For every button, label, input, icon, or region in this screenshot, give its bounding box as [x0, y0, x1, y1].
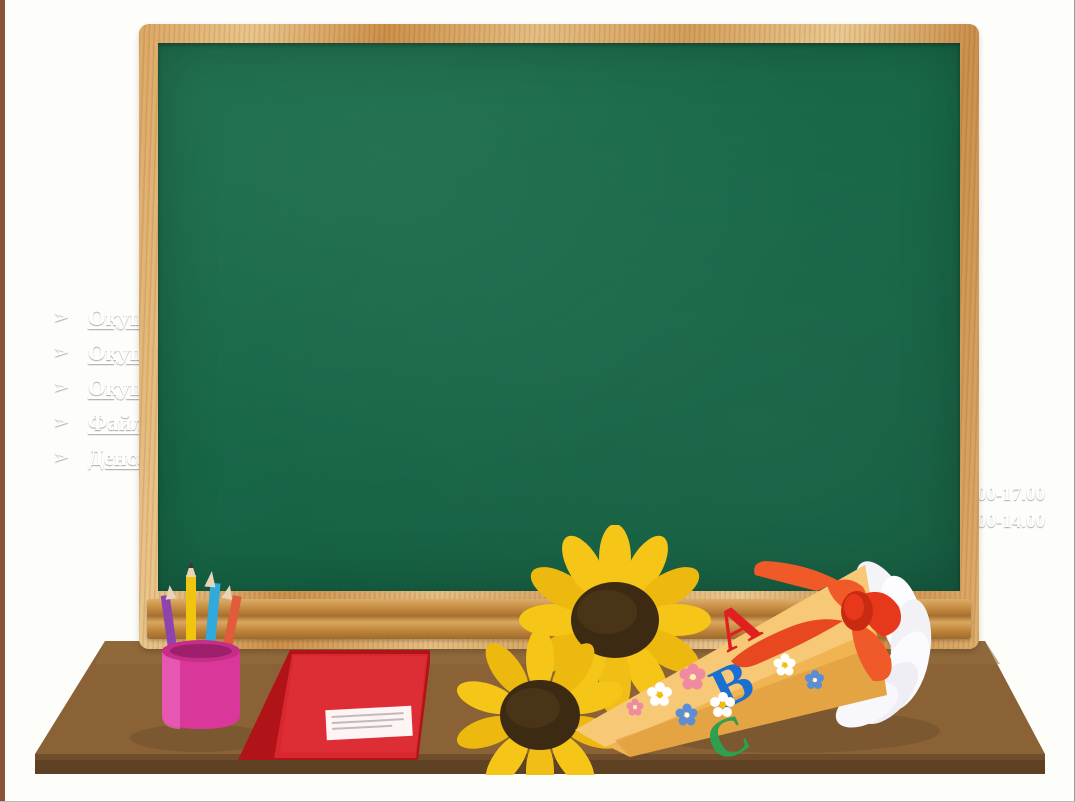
- poster-canvas: ШЫҒЫС ҚАЗАҚСТАН ОБЛЫСЫ БІЛІМ БАСҚАРМАСЫ …: [0, 0, 1075, 802]
- page-border-left: [0, 0, 5, 802]
- chalkboard-surface: [158, 43, 960, 591]
- red-book: [230, 648, 440, 768]
- school-cone-group: A B C: [455, 525, 975, 775]
- bullet-arrow-icon: ➢: [52, 337, 70, 368]
- bullet-arrow-icon: ➢: [52, 407, 70, 438]
- bullet-arrow-icon: ➢: [52, 442, 70, 473]
- cup: [162, 640, 240, 729]
- bullet-arrow-icon: ➢: [52, 372, 70, 403]
- bullet-arrow-icon: ➢: [52, 302, 70, 333]
